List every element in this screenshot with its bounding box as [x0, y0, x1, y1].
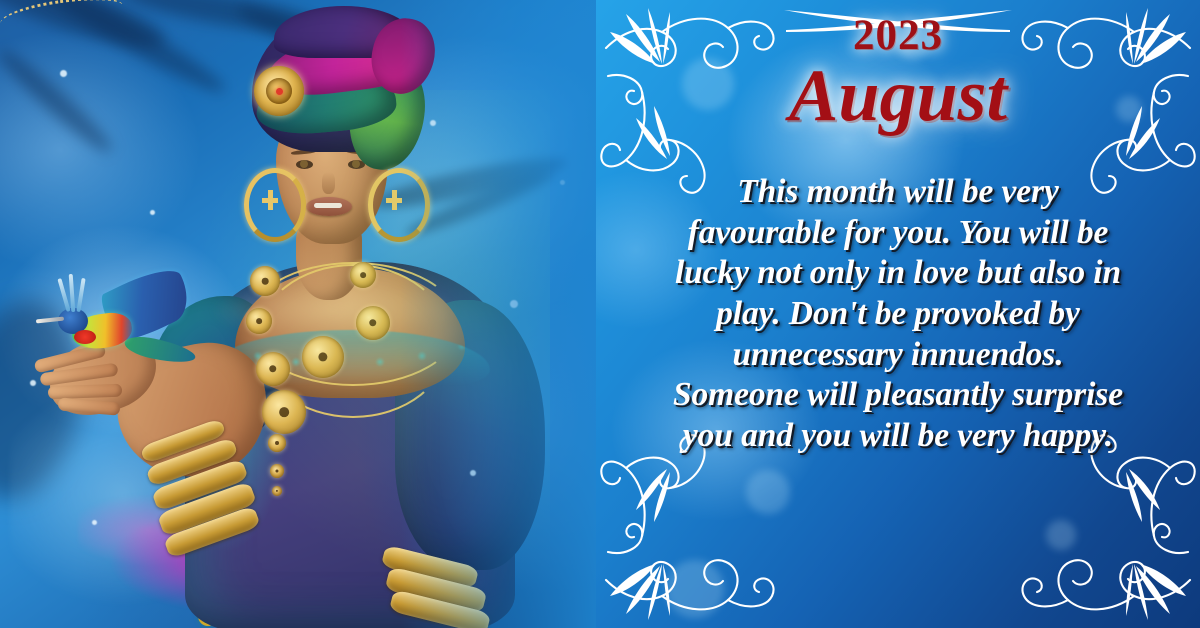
corner-flourish-top-right — [1006, 2, 1196, 202]
finger — [48, 384, 122, 400]
light-bubble — [896, 26, 930, 60]
iris — [300, 160, 308, 168]
iris — [352, 160, 360, 168]
light-bubble — [682, 58, 734, 110]
snow-speck — [510, 300, 518, 308]
light-bubble — [746, 470, 790, 514]
earring-cross-icon — [386, 190, 402, 210]
gold-medallion — [272, 486, 282, 496]
gold-medallion — [246, 308, 272, 334]
forecast-text: This month will be very favourable for y… — [672, 172, 1124, 457]
corner-flourish-bottom-right — [1006, 426, 1196, 626]
gold-medallion — [250, 266, 280, 296]
horoscope-card: 2023 August This month will be very favo… — [0, 0, 1200, 628]
light-bubble — [1116, 96, 1142, 122]
sweep-line-right — [784, 10, 1010, 34]
gold-medallion — [350, 262, 376, 288]
snow-speck — [470, 470, 476, 476]
gold-medallion — [256, 352, 290, 386]
teeth — [314, 203, 342, 208]
artwork-illustration — [0, 0, 620, 628]
light-bubble — [666, 560, 724, 618]
snow-speck — [430, 120, 436, 126]
snow-speck — [30, 380, 36, 386]
forecast-panel: 2023 August This month will be very favo… — [596, 0, 1200, 628]
gold-medallion — [262, 390, 306, 434]
gold-medallion — [268, 434, 286, 452]
gold-medallion — [302, 336, 344, 378]
snow-speck — [92, 520, 97, 525]
sweep-line-left — [786, 10, 1012, 34]
gold-medallion — [270, 464, 284, 478]
snow-speck — [150, 210, 155, 215]
hummingbird-throat — [74, 330, 96, 344]
snow-speck — [60, 70, 67, 77]
earring-cross-icon — [262, 190, 278, 210]
light-bubble — [1046, 520, 1076, 550]
snow-speck — [560, 180, 565, 185]
nose — [322, 172, 335, 194]
gold-medallion — [356, 306, 390, 340]
turban-brooch-gem — [276, 88, 283, 95]
